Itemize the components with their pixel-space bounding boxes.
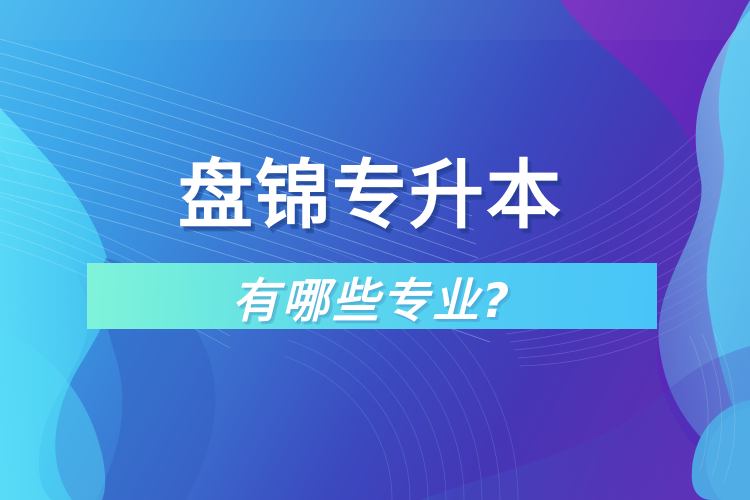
banner-subtitle: 有哪些专业? (87, 263, 657, 329)
promo-banner: 盘锦专升本 有哪些专业? (0, 0, 750, 500)
banner-title: 盘锦专升本 (178, 152, 563, 238)
banner-content: 盘锦专升本 有哪些专业? (0, 0, 750, 500)
